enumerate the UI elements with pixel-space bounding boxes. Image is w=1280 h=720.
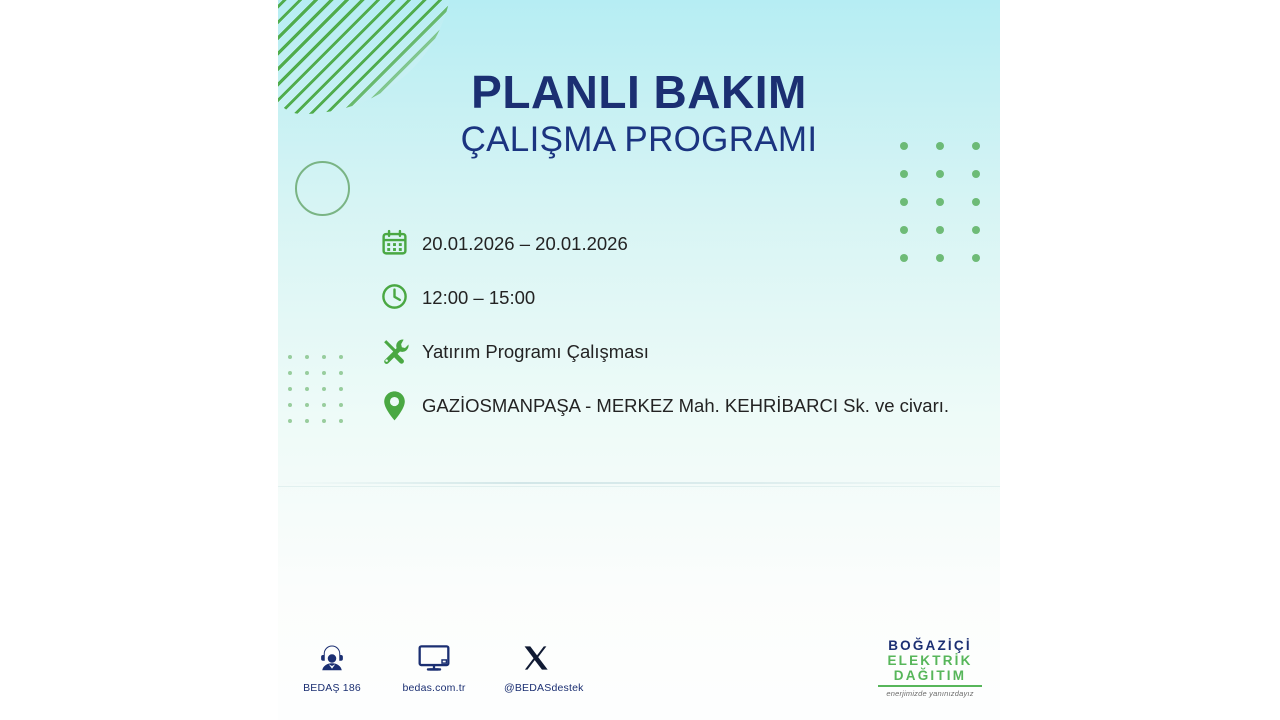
- background-seam-secondary: [278, 486, 1000, 487]
- circle-outline-decoration: [295, 161, 350, 216]
- detail-row-time: 12:00 – 15:00: [380, 281, 980, 313]
- contact-phone-label: BEDAŞ 186: [300, 682, 364, 694]
- poster-title-main: PLANLI BAKIM: [278, 66, 1000, 118]
- logo-line-elektrik: ELEKTRİK: [876, 653, 984, 668]
- call-center-agent-icon: [300, 640, 364, 676]
- poster-footer: BEDAŞ 186 bedas.com.tr: [278, 638, 1000, 712]
- x-twitter-icon: [504, 640, 568, 676]
- maintenance-details-list: 20.01.2026 – 20.01.2026 12:00 – 15:00: [380, 227, 980, 444]
- contact-website[interactable]: bedas.com.tr: [402, 640, 466, 694]
- detail-date-text: 20.01.2026 – 20.01.2026: [422, 227, 628, 259]
- detail-time-text: 12:00 – 15:00: [422, 281, 535, 313]
- logo-tagline: enerjimizde yanınızdayız: [876, 689, 984, 698]
- detail-worktype-text: Yatırım Programı Çalışması: [422, 335, 649, 367]
- poster-title-sub: ÇALIŞMA PROGRAMI: [278, 118, 1000, 162]
- contact-channels: BEDAŞ 186 bedas.com.tr: [300, 640, 568, 694]
- dot-grid-left-decoration: [288, 355, 356, 435]
- poster-title-block: PLANLI BAKIM ÇALIŞMA PROGRAMI: [278, 66, 1000, 162]
- contact-x-label: @BEDASdestek: [504, 682, 568, 694]
- contact-x[interactable]: @BEDASdestek: [504, 640, 568, 694]
- monitor-icon: [402, 640, 466, 676]
- logo-divider: [878, 685, 982, 687]
- detail-row-date: 20.01.2026 – 20.01.2026: [380, 227, 980, 259]
- detail-location-text: GAZİOSMANPAŞA - MERKEZ Mah. KEHRİBARCI S…: [422, 389, 949, 421]
- tools-icon: [380, 335, 422, 366]
- contact-phone[interactable]: BEDAŞ 186: [300, 640, 364, 694]
- location-pin-icon: [380, 389, 422, 422]
- background-seam: [278, 482, 1000, 484]
- contact-website-label: bedas.com.tr: [402, 682, 466, 694]
- detail-row-worktype: Yatırım Programı Çalışması: [380, 335, 980, 367]
- clock-icon: [380, 281, 422, 311]
- logo-line-bogazici: BOĞAZİÇİ: [876, 638, 984, 653]
- logo-line-dagitim: DAĞITIM: [876, 668, 984, 683]
- bedas-logo: BOĞAZİÇİ ELEKTRİK DAĞITIM enerjimizde ya…: [876, 638, 984, 698]
- calendar-icon: [380, 227, 422, 257]
- screenshot-root: PLANLI BAKIM ÇALIŞMA PROGRAMI: [0, 0, 1280, 720]
- planned-maintenance-poster: PLANLI BAKIM ÇALIŞMA PROGRAMI: [278, 0, 1000, 720]
- detail-row-location: GAZİOSMANPAŞA - MERKEZ Mah. KEHRİBARCI S…: [380, 389, 980, 422]
